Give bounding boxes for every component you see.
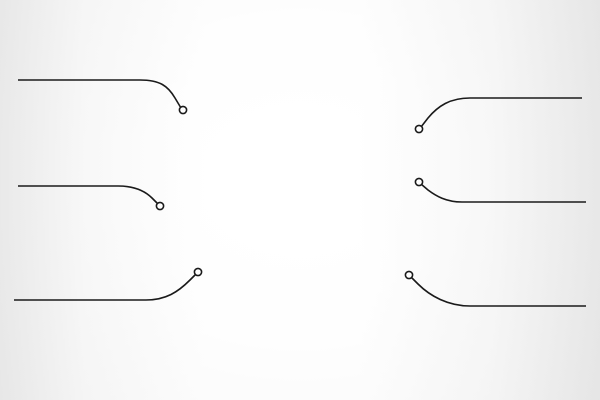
connector-dot-mecanismo (415, 178, 422, 185)
connector-impresion (18, 186, 158, 204)
connector-manejas (421, 98, 582, 127)
connector-mecanismo (421, 184, 586, 202)
connector-bordes (14, 274, 196, 300)
connector-dot-impresion (156, 202, 163, 209)
connector-lines (0, 0, 600, 400)
connector-dot-manejas (415, 125, 422, 132)
connector-vidrio-templado (18, 80, 181, 108)
connector-espaciador (411, 277, 586, 306)
connector-dot-bordes (194, 268, 201, 275)
infographic-canvas: 12 1 2 3 4 5 6 7 8 9 10 11 (0, 0, 600, 400)
connector-dot-espaciador (405, 271, 412, 278)
connector-dot-vidrio (179, 106, 186, 113)
